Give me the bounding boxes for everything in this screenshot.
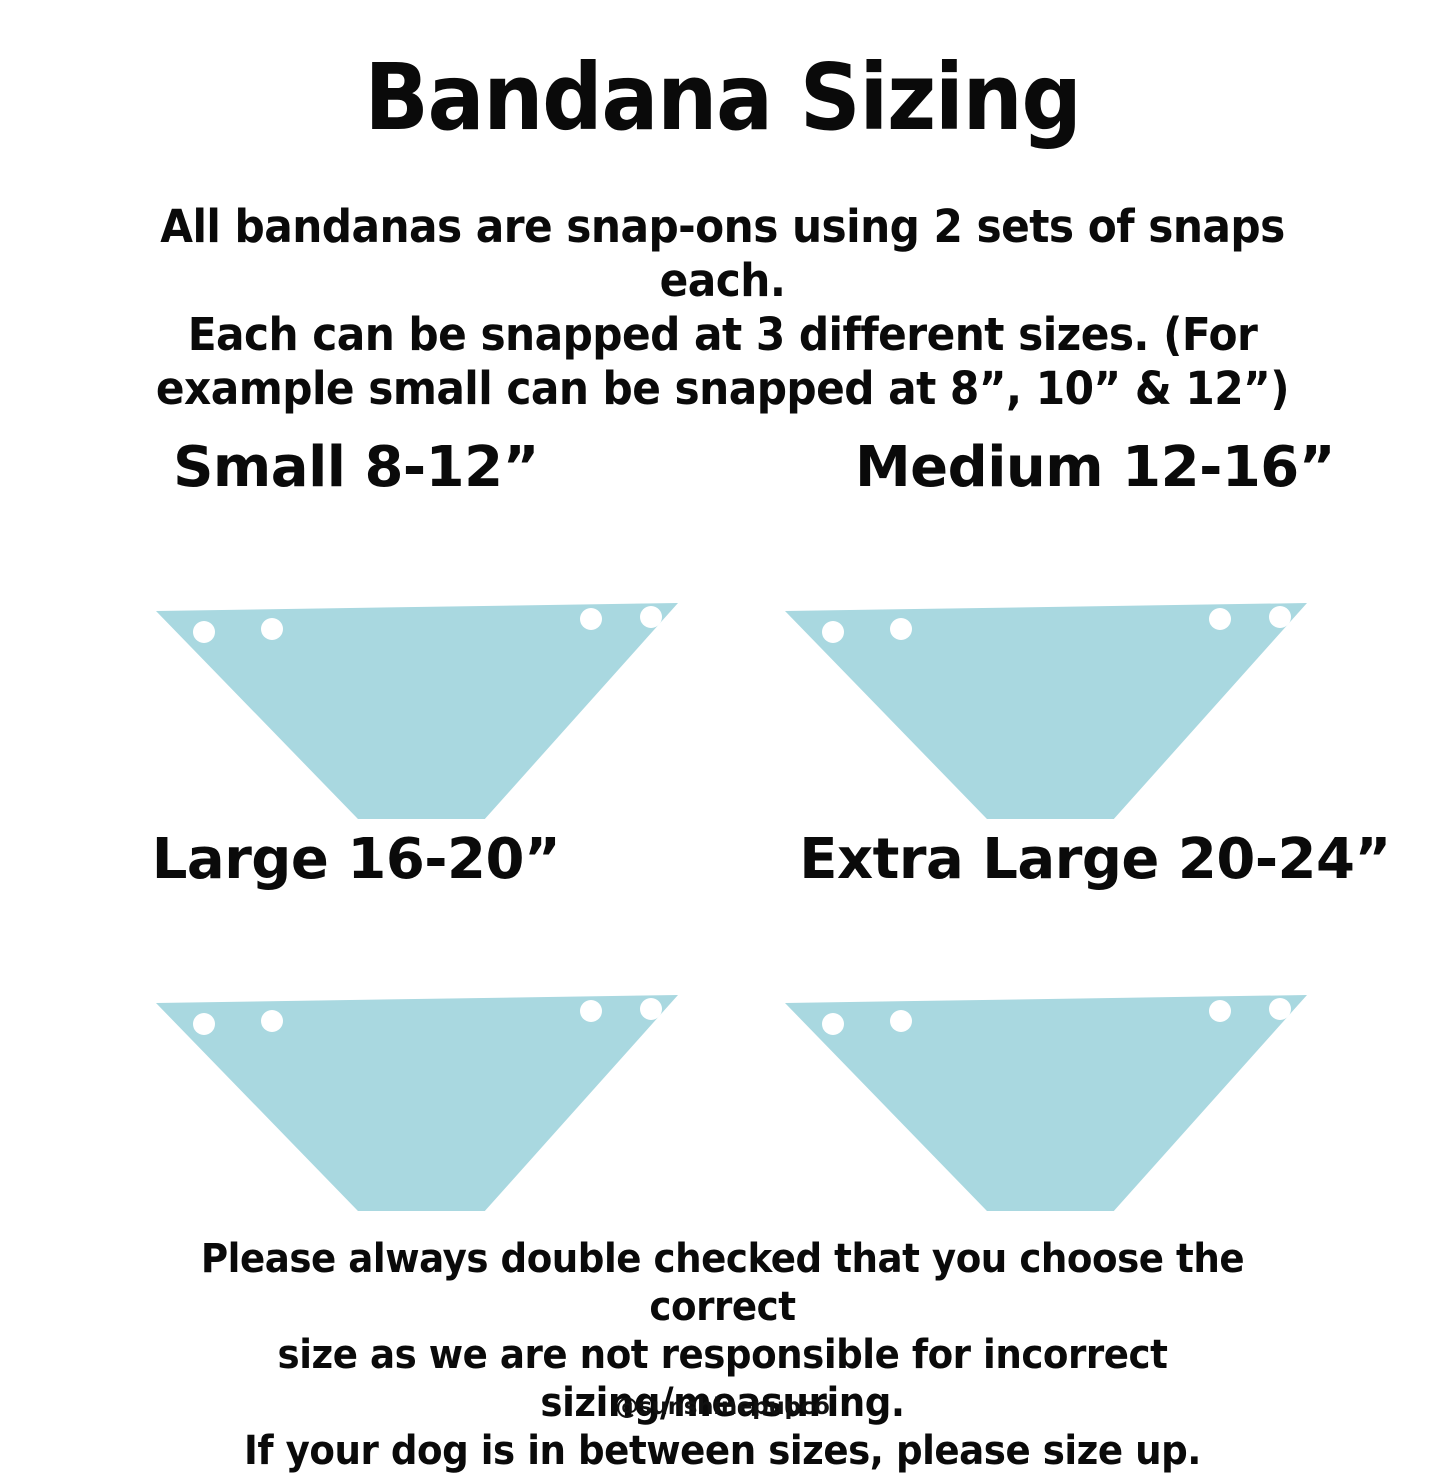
- intro-line-1: All bandanas are snap-ons using 2 sets o…: [133, 200, 1313, 308]
- bandana-shape-small: [6, 519, 706, 819]
- snap-hole-left-inner: [890, 618, 912, 640]
- intro-paragraph: All bandanas are snap-ons using 2 sets o…: [133, 200, 1313, 416]
- bandana-size-grid: Small 8-12” Medium 12-16”: [0, 435, 1445, 1225]
- size-label-medium: Medium 12-16”: [745, 435, 1445, 501]
- disclaimer-paragraph: Please always double checked that you ch…: [139, 1235, 1306, 1475]
- snap-hole-right-inner: [1209, 608, 1231, 630]
- snap-hole-right-inner: [580, 1000, 602, 1022]
- disclaimer-line-3: If your dog is in between sizes, please …: [139, 1427, 1306, 1475]
- bandana-triangle: [156, 995, 678, 1211]
- bandana-triangle: [785, 995, 1307, 1211]
- snap-hole-right-outer: [1269, 998, 1291, 1020]
- bandana-card-extra-large: Extra Large 20-24”: [745, 827, 1445, 1222]
- social-handle: @sunshinepupco: [0, 1393, 1445, 1421]
- snap-hole-left-inner: [890, 1010, 912, 1032]
- bandana-triangle-small-svg: [6, 519, 706, 819]
- bandana-triangle-medium-svg: [745, 519, 1445, 819]
- snap-hole-left-inner: [261, 618, 283, 640]
- intro-line-3: example small can be snapped at 8”, 10” …: [133, 362, 1313, 416]
- snap-hole-right-outer: [640, 606, 662, 628]
- bandana-triangle-extra-large-svg: [745, 911, 1445, 1211]
- bandana-card-small: Small 8-12”: [6, 435, 706, 830]
- bandana-triangle-large-svg: [6, 911, 706, 1211]
- page-title: Bandana Sizing: [58, 52, 1387, 144]
- bandana-card-large: Large 16-20”: [6, 827, 706, 1222]
- snap-hole-left-outer: [193, 621, 215, 643]
- snap-hole-left-outer: [193, 1013, 215, 1035]
- intro-line-2: Each can be snapped at 3 different sizes…: [133, 308, 1313, 362]
- size-label-extra-large: Extra Large 20-24”: [745, 827, 1445, 893]
- bandana-shape-medium: [745, 519, 1445, 819]
- snap-hole-right-inner: [1209, 1000, 1231, 1022]
- size-label-small: Small 8-12”: [6, 435, 706, 501]
- bandana-triangle: [785, 603, 1307, 819]
- snap-hole-right-outer: [640, 998, 662, 1020]
- snap-hole-left-outer: [822, 621, 844, 643]
- bandana-triangle: [156, 603, 678, 819]
- snap-hole-right-outer: [1269, 606, 1291, 628]
- bandana-card-medium: Medium 12-16”: [745, 435, 1445, 830]
- snap-hole-left-outer: [822, 1013, 844, 1035]
- bandana-shape-large: [6, 911, 706, 1211]
- bandana-sizing-graphic: Bandana Sizing All bandanas are snap-ons…: [0, 0, 1445, 1445]
- snap-hole-right-inner: [580, 608, 602, 630]
- bandana-shape-extra-large: [745, 911, 1445, 1211]
- snap-hole-left-inner: [261, 1010, 283, 1032]
- size-label-large: Large 16-20”: [6, 827, 706, 893]
- disclaimer-line-1: Please always double checked that you ch…: [139, 1235, 1306, 1331]
